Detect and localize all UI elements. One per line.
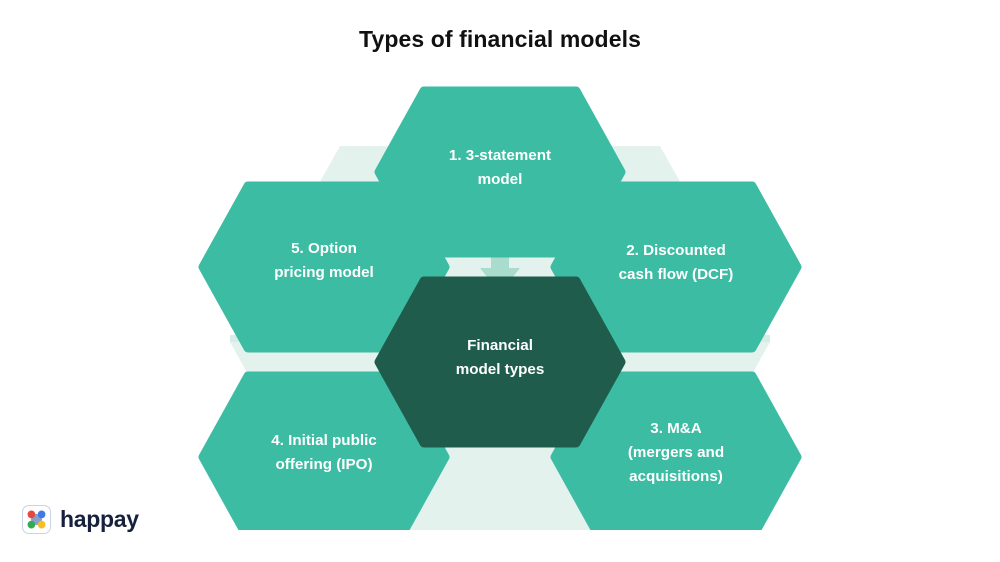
hexagon-label-3-line-1: 3. M&A: [650, 420, 702, 437]
hexagon-financial-model-types[interactable]: Financial model types: [379, 281, 621, 443]
happay-logo-mark: [22, 505, 51, 534]
hexagon-label-3-line-3: acquisitions): [629, 468, 723, 485]
hexagon-label-5-line-1: 5. Option: [291, 240, 357, 257]
center-label-line-1: Financial: [467, 337, 533, 354]
hexagon-label-2-line-1: 2. Discounted: [626, 242, 726, 259]
dot-green: [28, 521, 36, 529]
center-label-line-2: model types: [456, 361, 545, 378]
hexagon-label-3-line-2: (mergers and: [628, 444, 724, 461]
happay-logo: happay: [22, 505, 139, 534]
hexagon-label-2-line-2: cash flow (DCF): [619, 266, 734, 283]
happay-wordmark: happay: [60, 508, 139, 531]
page-title: Types of financial models: [0, 26, 1000, 53]
financial-models-diagram: 1. 3-statement model 2. Discounted cash …: [180, 60, 820, 530]
dot-red: [28, 511, 36, 519]
hexagon-label-4-line-2: offering (IPO): [275, 456, 372, 473]
hexagon-label-5-line-2: pricing model: [274, 264, 374, 281]
dot-yellow: [38, 521, 46, 529]
dot-blue: [38, 511, 46, 519]
hexagon-label-1-line-1: 1. 3-statement: [449, 147, 551, 164]
hexagon-label-1-line-2: model: [478, 171, 523, 188]
hexagon-label-4-line-1: 4. Initial public: [271, 432, 376, 449]
